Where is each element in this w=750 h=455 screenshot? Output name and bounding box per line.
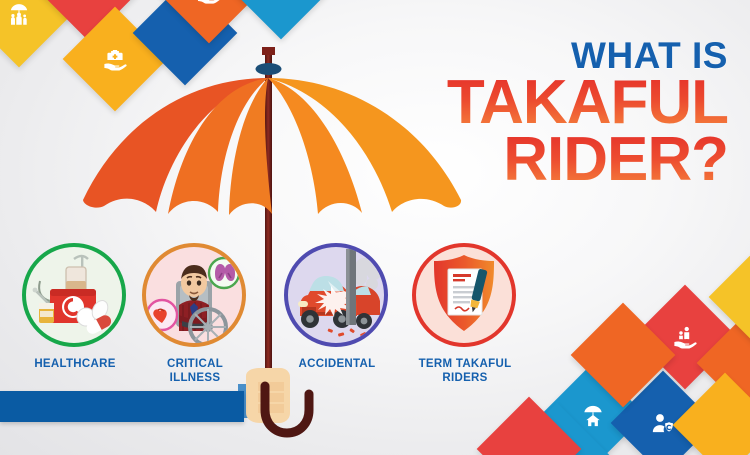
wheelchair-patient-icon	[146, 247, 242, 343]
umbrella-pole	[265, 55, 272, 405]
umbrella-tip	[262, 47, 275, 55]
healthcare-icon-circle	[22, 243, 126, 347]
category-accidental[interactable]: ACCIDENTAL	[284, 243, 390, 372]
medical-kit-icon	[26, 247, 122, 343]
category-label-term-takaful-riders: TERM TAKAFUL RIDERS	[412, 358, 518, 385]
shield-document-icon	[416, 247, 512, 343]
critical-illness-icon-circle	[142, 243, 246, 347]
category-critical-illness[interactable]: CRITICAL ILLNESS	[142, 243, 248, 385]
category-label-healthcare: HEALTHCARE	[22, 358, 128, 372]
bottom-blue-bar	[0, 391, 244, 422]
term-takaful-icon-circle	[412, 243, 516, 347]
label-line-1: TERM TAKAFUL	[419, 358, 512, 370]
car-crash-icon	[288, 247, 384, 343]
category-term-takaful-riders[interactable]: TERM TAKAFUL RIDERS	[412, 243, 518, 385]
infographic-canvas: WHAT IS TAKAFUL RIDER?	[0, 0, 750, 455]
umbrella-ferrule	[256, 63, 282, 75]
title-line-3: RIDER?	[447, 131, 728, 188]
accidental-icon-circle	[284, 243, 388, 347]
category-healthcare[interactable]: HEALTHCARE	[22, 243, 128, 372]
category-label-accidental: ACCIDENTAL	[284, 358, 390, 372]
category-label-critical-illness: CRITICAL ILLNESS	[142, 358, 248, 385]
label-line-2: RIDERS	[442, 372, 487, 384]
title-line-2: TAKAFUL	[447, 74, 728, 131]
page-title: WHAT IS TAKAFUL RIDER?	[447, 38, 728, 188]
